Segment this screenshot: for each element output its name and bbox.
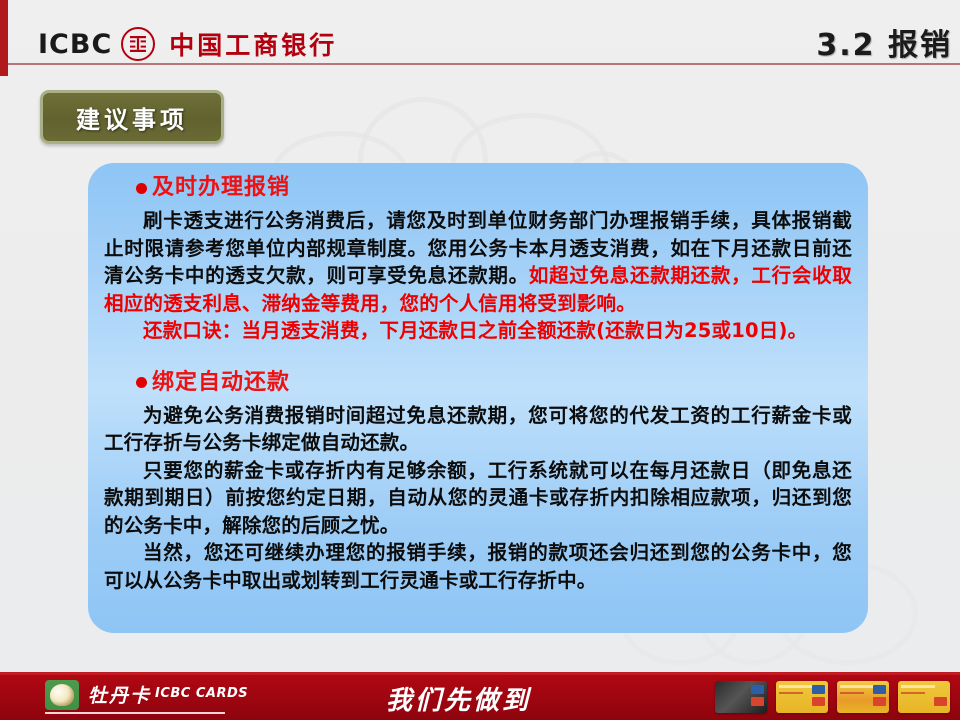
paragraph-run: 还款口诀：当月透支消费，下月还款日之前全额还款(还款日为25或10日)。 [143, 319, 807, 342]
paragraph: 只要您的薪金卡或存折内有足够余额，工行系统就可以在每月还款日（即免息还款期到期日… [104, 457, 852, 540]
paragraph-run: 当然，您还可继续办理您的报销手续，报销的款项还会归还到您的公务卡中，您可以从公务… [104, 541, 852, 592]
peony-flower-icon [45, 680, 79, 710]
block-heading: 及时办理报销 [136, 174, 852, 202]
card-thumbnail [898, 681, 950, 713]
header-red-accent-bar [0, 0, 8, 76]
footer-brand-underline [45, 712, 225, 714]
logo-wordmark: ICBC [38, 29, 112, 60]
paragraph: 还款口诀：当月透支消费，下月还款日之前全额还款(还款日为25或10日)。 [104, 317, 852, 345]
page-footer: 牡丹卡 ICBC CARDS 我们先做到 [0, 672, 960, 720]
logo-chinese-name: 中国工商银行 [169, 26, 337, 62]
footer-brand-cn: 牡丹卡 [88, 681, 151, 708]
paragraph: 为避免公务消费报销时间超过免息还款期，您可将您的代发工资的工行薪金卡或工行存折与… [104, 402, 852, 457]
icbc-emblem-icon [121, 27, 155, 61]
section-tab-suggestions[interactable]: 建议事项 [40, 90, 224, 144]
bullet-icon [136, 183, 147, 194]
bullet-icon [136, 377, 147, 388]
footer-slogan: 我们先做到 [386, 680, 531, 717]
icbc-logo: ICBC 中国工商银行 [38, 26, 337, 62]
block-heading-label: 绑定自动还款 [152, 369, 290, 397]
block-heading: 绑定自动还款 [136, 369, 852, 397]
section-tab-label: 建议事项 [76, 100, 188, 135]
card-thumbnail [837, 681, 889, 713]
paragraph: 刷卡透支进行公务消费后，请您及时到单位财务部门办理报销手续，具体报销截止时限请参… [104, 207, 852, 317]
paragraph: 当然，您还可继续办理您的报销手续，报销的款项还会归还到您的公务卡中，您可以从公务… [104, 539, 852, 594]
paragraph-run: 只要您的薪金卡或存折内有足够余额，工行系统就可以在每月还款日（即免息还款期到期日… [104, 459, 852, 537]
content-panel: 及时办理报销 刷卡透支进行公务消费后，请您及时到单位财务部门办理报销手续，具体报… [88, 163, 868, 633]
slide-canvas: ICBC 中国工商银行 3.2 报销 建议事项 及时办 [0, 0, 960, 720]
card-thumbnail [776, 681, 828, 713]
page-title: 3.2 报销 [816, 20, 952, 64]
card-thumbnail [715, 681, 767, 713]
footer-top-edge [0, 672, 960, 675]
footer-brand-en: ICBC CARDS [155, 686, 248, 701]
page-header: ICBC 中国工商银行 3.2 报销 [0, 0, 960, 76]
paragraph-run: 为避免公务消费报销时间超过免息还款期，您可将您的代发工资的工行薪金卡或工行存折与… [104, 404, 852, 455]
footer-card-gallery [715, 681, 950, 713]
block-heading-label: 及时办理报销 [152, 174, 290, 202]
